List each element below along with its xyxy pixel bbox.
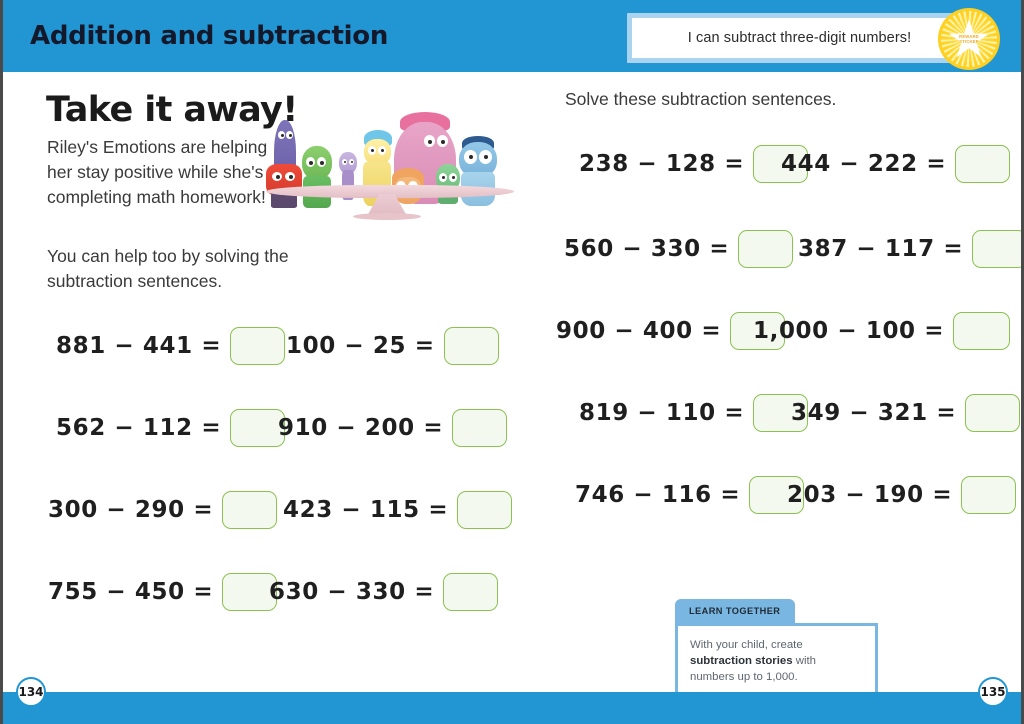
objective-text: I can subtract three-digit numbers! [688,30,912,46]
learn-body-bold: subtraction stories [690,655,793,667]
answer-box[interactable] [230,327,285,365]
problem-left-3: 562 − 112 = [56,409,285,447]
table-base [353,213,421,220]
problem-left-5: 300 − 290 = [48,491,277,529]
answer-box[interactable] [222,491,277,529]
left-page: Take it away! Riley's Emotions are helpi… [3,72,523,692]
right-page: Solve these subtraction sentences. 238 −… [523,72,1021,692]
answer-box[interactable] [972,230,1024,268]
problem-right-1: 238 − 128 = [579,145,808,183]
answer-box[interactable] [955,145,1010,183]
problem-text: 423 − 115 = [283,497,448,523]
problem-left-6: 423 − 115 = [283,491,512,529]
problem-text: 881 − 441 = [56,333,221,359]
header-band: Addition and subtraction I can subtract … [3,0,1021,72]
character-disgust [300,146,334,208]
page-number-right: 135 [978,677,1008,707]
problem-text: 300 − 290 = [48,497,213,523]
problem-text: 746 − 116 = [575,482,740,508]
answer-box[interactable] [452,409,507,447]
learn-together-tab-label: LEARN TOGETHER [689,606,780,616]
problem-text: 755 − 450 = [48,579,213,605]
intro-paragraph-2: You can help too by solving the subtract… [47,244,347,294]
page-body: Take it away! Riley's Emotions are helpi… [3,72,1021,692]
problem-text: 560 − 330 = [564,236,729,262]
problem-text: 203 − 190 = [787,482,952,508]
problem-text: 238 − 128 = [579,151,744,177]
learn-together-tab: LEARN TOGETHER [675,599,795,623]
problem-right-7: 819 − 110 = [579,394,808,432]
problem-right-8: 349 − 321 = [791,394,1020,432]
objective-plaque-wrap: I can subtract three-digit numbers! REWA… [627,13,1019,63]
footer-band [3,692,1021,724]
problem-text: 910 − 200 = [278,415,443,441]
problem-text: 630 − 330 = [269,579,434,605]
answer-box[interactable] [738,230,793,268]
right-page-instruction: Solve these subtraction sentences. [565,89,836,110]
problem-text: 387 − 117 = [798,236,963,262]
intro-paragraph-1: Riley's Emotions are helping her stay po… [47,135,283,210]
problem-text: 444 − 222 = [781,151,946,177]
problem-text: 100 − 25 = [286,333,435,359]
answer-box[interactable] [444,327,499,365]
problem-left-2: 100 − 25 = [286,327,499,365]
answer-box[interactable] [230,409,285,447]
problem-text: 900 − 400 = [556,318,721,344]
objective-plaque: I can subtract three-digit numbers! [627,13,972,63]
emotions-illustration [258,100,520,220]
answer-box[interactable] [457,491,512,529]
problem-left-4: 910 − 200 = [278,409,507,447]
problem-right-3: 560 − 330 = [564,230,793,268]
problem-right-4: 387 − 117 = [798,230,1024,268]
problem-left-7: 755 − 450 = [48,573,277,611]
page-title: Addition and subtraction [30,21,388,51]
learn-together-body: With your child, create subtraction stor… [675,623,878,701]
answer-box[interactable] [953,312,1010,350]
sticker-label-line2: STICKER [959,39,979,44]
learn-body-prefix: With your child, create [690,639,803,651]
workbook-page: Addition and subtraction I can subtract … [0,0,1024,724]
page-number-left: 134 [16,677,46,707]
problem-left-1: 881 − 441 = [56,327,285,365]
objective-inner: I can subtract three-digit numbers! [632,18,967,58]
character-anger [266,162,302,208]
answer-box[interactable] [965,394,1020,432]
problem-right-5: 900 − 400 = [556,312,785,350]
problem-right-6: 1,000 − 100 = [753,312,1010,350]
answer-box[interactable] [961,476,1016,514]
problem-right-2: 444 − 222 = [781,145,1010,183]
problem-right-10: 203 − 190 = [787,476,1016,514]
problem-text: 349 − 321 = [791,400,956,426]
problem-right-9: 746 − 116 = [575,476,804,514]
learn-together-box: LEARN TOGETHER With your child, create s… [675,599,878,701]
reward-sticker-badge[interactable]: REWARD STICKER [938,8,1000,70]
answer-box[interactable] [443,573,498,611]
problem-text: 819 − 110 = [579,400,744,426]
problem-text: 562 − 112 = [56,415,221,441]
problem-text: 1,000 − 100 = [753,318,944,344]
problem-left-8: 630 − 330 = [269,573,498,611]
